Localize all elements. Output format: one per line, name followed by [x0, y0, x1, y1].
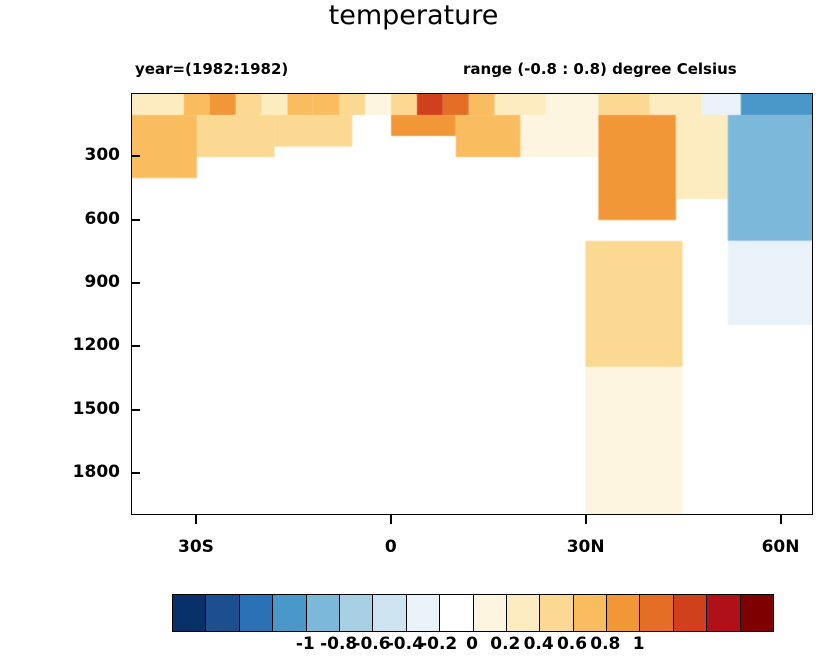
heatmap-canvas: [132, 94, 812, 514]
colorbar-swatch: [373, 595, 406, 631]
colorbar-swatch: [507, 595, 540, 631]
x-tick-label: 30N: [546, 537, 626, 557]
x-tick-mark: [585, 515, 587, 524]
heatmap-plot: [131, 93, 813, 515]
y-tick-label: 1800: [60, 462, 120, 482]
colorbar-swatch: [540, 595, 573, 631]
x-tick-label: 60N: [741, 537, 821, 557]
colorbar-swatch: [474, 595, 507, 631]
y-tick-mark: [131, 409, 140, 411]
y-tick-mark: [131, 345, 140, 347]
colorbar-swatch: [307, 595, 340, 631]
colorbar-swatch: [173, 595, 206, 631]
colorbar-swatch: [640, 595, 673, 631]
x-tick-mark: [195, 515, 197, 524]
y-tick-label: 1500: [60, 399, 120, 419]
colorbar-swatch: [707, 595, 740, 631]
colorbar-tick-label: 1: [614, 634, 664, 654]
colorbar: [172, 594, 774, 632]
colorbar-swatch: [440, 595, 473, 631]
year-annotation: year=(1982:1982): [135, 60, 288, 78]
y-tick-mark: [131, 155, 140, 157]
y-tick-label: 900: [60, 272, 120, 292]
x-tick-label: 30S: [156, 537, 236, 557]
colorbar-swatch: [340, 595, 373, 631]
colorbar-swatch: [240, 595, 273, 631]
colorbar-swatch: [206, 595, 239, 631]
page-title: temperature: [0, 0, 827, 31]
y-tick-label: 600: [60, 209, 120, 229]
y-tick-mark: [131, 219, 140, 221]
colorbar-swatch: [607, 595, 640, 631]
y-tick-mark: [131, 472, 140, 474]
colorbar-swatch: [273, 595, 306, 631]
range-annotation: range (-0.8 : 0.8) degree Celsius: [463, 60, 737, 78]
y-tick-label: 1200: [60, 335, 120, 355]
colorbar-swatch: [741, 595, 773, 631]
x-tick-label: 0: [351, 537, 431, 557]
y-tick-mark: [131, 282, 140, 284]
x-tick-mark: [780, 515, 782, 524]
x-tick-mark: [390, 515, 392, 524]
y-tick-label: 300: [60, 145, 120, 165]
colorbar-swatch: [407, 595, 440, 631]
colorbar-swatch: [674, 595, 707, 631]
colorbar-swatch: [574, 595, 607, 631]
